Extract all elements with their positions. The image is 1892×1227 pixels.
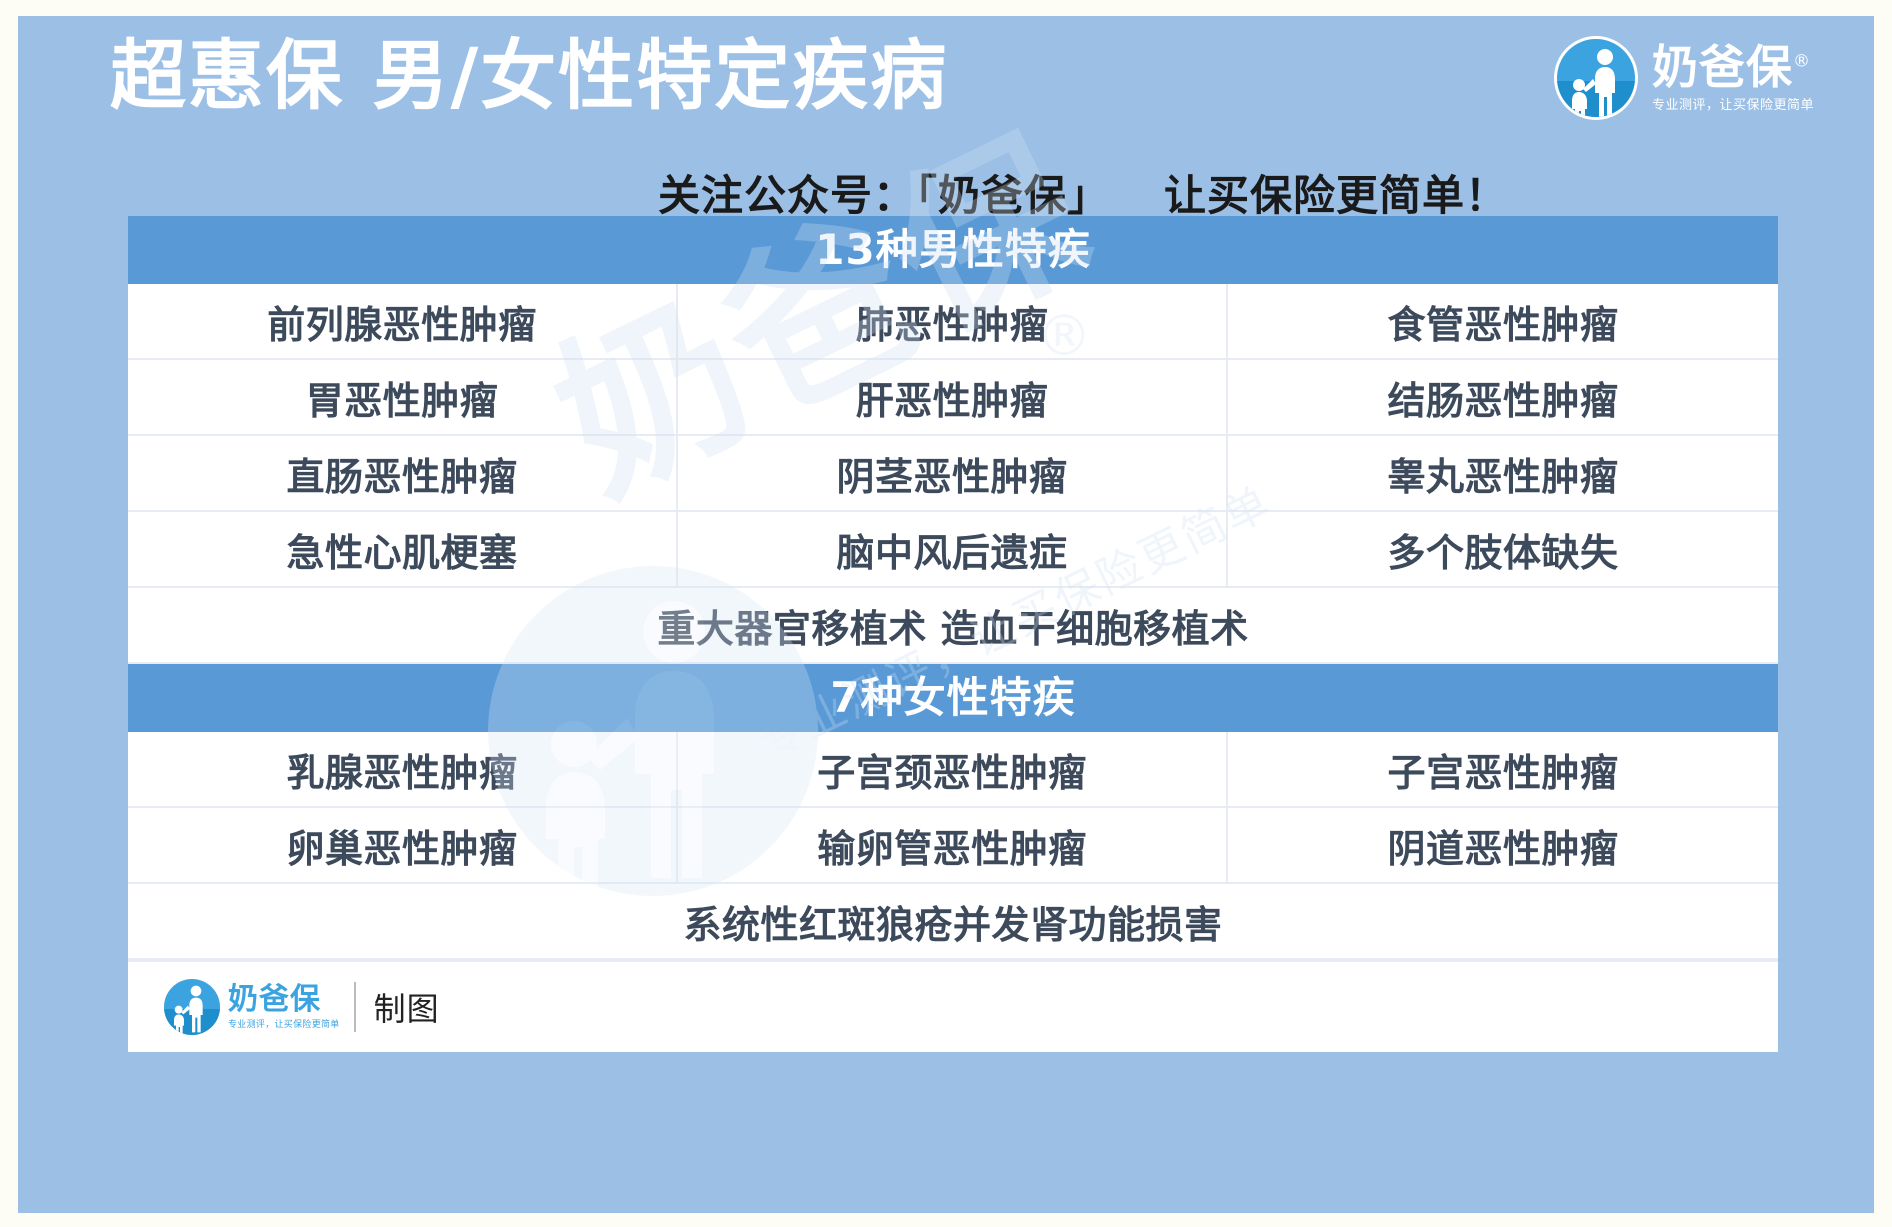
disease-cell: 脑中风后遗症 bbox=[678, 512, 1228, 586]
disease-cell: 睾丸恶性肿瘤 bbox=[1228, 436, 1778, 510]
footer-label: 制图 bbox=[374, 984, 440, 1030]
disease-table: 13种男性特疾 前列腺恶性肿瘤 肺恶性肿瘤 食管恶性肿瘤 胃恶性肿瘤 肝恶性肿瘤… bbox=[128, 216, 1778, 1052]
brand-name: 奶爸保® bbox=[1652, 43, 1814, 91]
section-header-female: 7种女性特疾 bbox=[128, 664, 1778, 732]
disease-cell: 子宫颈恶性肿瘤 bbox=[678, 732, 1228, 806]
disease-cell: 结肠恶性肿瘤 bbox=[1228, 360, 1778, 434]
footer-divider bbox=[354, 982, 356, 1032]
disease-cell: 子宫恶性肿瘤 bbox=[1228, 732, 1778, 806]
disease-cell: 肝恶性肿瘤 bbox=[678, 360, 1228, 434]
disease-cell: 急性心肌梗塞 bbox=[128, 512, 678, 586]
disease-cell: 食管恶性肿瘤 bbox=[1228, 284, 1778, 358]
footer-brand-tagline: 专业测评，让买保险更简单 bbox=[228, 1017, 340, 1030]
parent-child-icon bbox=[1554, 36, 1638, 120]
table-row: 前列腺恶性肿瘤 肺恶性肿瘤 食管恶性肿瘤 bbox=[128, 284, 1778, 360]
footer-brand-logo: 奶爸保 专业测评，让买保险更简单 bbox=[164, 979, 340, 1035]
brand-logo: 奶爸保® 专业测评，让买保险更简单 bbox=[1554, 36, 1814, 120]
footer-brand-name: 奶爸保 bbox=[228, 984, 340, 1016]
footer-figure-icon bbox=[164, 979, 220, 1035]
poster-canvas: 超惠保 男/女性特定疾病 bbox=[18, 16, 1874, 1213]
disease-cell: 前列腺恶性肿瘤 bbox=[128, 284, 678, 358]
subtitle-right: 让买保险更简单！ bbox=[1164, 171, 1508, 220]
subtitle-left: 关注公众号：「奶爸保」 bbox=[658, 171, 1110, 220]
footer-parent-child-icon bbox=[164, 979, 220, 1035]
brand-tagline: 专业测评，让买保险更简单 bbox=[1652, 94, 1814, 113]
poster: 超惠保 男/女性特定疾病 bbox=[0, 0, 1892, 1227]
disease-cell: 卵巢恶性肿瘤 bbox=[128, 808, 678, 882]
table-row: 急性心肌梗塞 脑中风后遗症 多个肢体缺失 bbox=[128, 512, 1778, 588]
disease-cell-merged: 重大器官移植术 造血干细胞移植术 bbox=[128, 588, 1778, 662]
brand-text: 奶爸保® 专业测评，让买保险更简单 bbox=[1652, 43, 1814, 112]
table-row: 乳腺恶性肿瘤 子宫颈恶性肿瘤 子宫恶性肿瘤 bbox=[128, 732, 1778, 808]
table-footer: 奶爸保 专业测评，让买保险更简单 制图 bbox=[128, 960, 1778, 1052]
table-row-merged: 系统性红斑狼疮并发肾功能损害 bbox=[128, 884, 1778, 960]
page-title: 超惠保 男/女性特定疾病 bbox=[110, 28, 948, 123]
disease-cell: 多个肢体缺失 bbox=[1228, 512, 1778, 586]
disease-cell: 直肠恶性肿瘤 bbox=[128, 436, 678, 510]
table-row: 直肠恶性肿瘤 阴茎恶性肿瘤 睾丸恶性肿瘤 bbox=[128, 436, 1778, 512]
disease-cell: 乳腺恶性肿瘤 bbox=[128, 732, 678, 806]
disease-cell: 输卵管恶性肿瘤 bbox=[678, 808, 1228, 882]
table-row-merged: 重大器官移植术 造血干细胞移植术 bbox=[128, 588, 1778, 664]
poster-header: 超惠保 男/女性特定疾病 bbox=[18, 16, 1874, 244]
footer-brand-text: 奶爸保 专业测评，让买保险更简单 bbox=[228, 984, 340, 1030]
table-row: 卵巢恶性肿瘤 输卵管恶性肿瘤 阴道恶性肿瘤 bbox=[128, 808, 1778, 884]
section-header-male: 13种男性特疾 bbox=[128, 216, 1778, 284]
table-row: 胃恶性肿瘤 肝恶性肿瘤 结肠恶性肿瘤 bbox=[128, 360, 1778, 436]
disease-cell: 阴茎恶性肿瘤 bbox=[678, 436, 1228, 510]
disease-cell: 阴道恶性肿瘤 bbox=[1228, 808, 1778, 882]
registered-mark-icon: ® bbox=[1793, 52, 1811, 72]
parent-child-figure-icon bbox=[1557, 39, 1638, 120]
disease-cell-merged: 系统性红斑狼疮并发肾功能损害 bbox=[128, 884, 1778, 958]
disease-cell: 肺恶性肿瘤 bbox=[678, 284, 1228, 358]
brand-name-label: 奶爸保 bbox=[1652, 40, 1793, 94]
subtitle: 关注公众号：「奶爸保」让买保险更简单！ bbox=[658, 162, 1508, 223]
disease-cell: 胃恶性肿瘤 bbox=[128, 360, 678, 434]
